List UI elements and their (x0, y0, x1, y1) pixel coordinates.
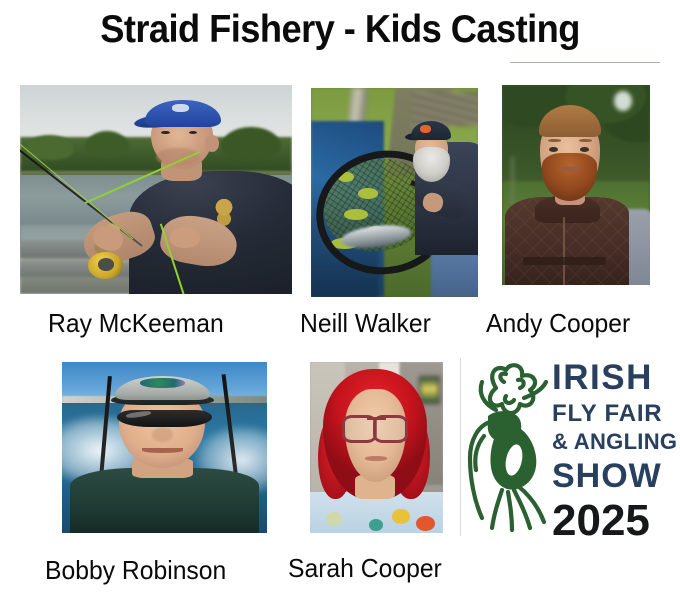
logo-wordmark: IRISH FLY FAIR & ANGLING SHOW 2025 (552, 360, 664, 543)
hand-on-line (170, 227, 200, 248)
logo-line-fly-fair: FLY FAIR (552, 402, 664, 426)
caption-neill-walker: Neill Walker (300, 308, 431, 339)
caption-sarah-cooper: Sarah Cooper (288, 553, 442, 584)
gilet-zip (563, 217, 565, 285)
logo-year: 2025 (552, 499, 664, 543)
logo-line-angling: & ANGLING (552, 431, 664, 453)
cap-logo (172, 104, 188, 112)
tree-clump (221, 127, 281, 160)
shamrock-fly-icon (462, 360, 548, 532)
photo-bobby-robinson (62, 362, 267, 533)
stubble (156, 148, 200, 167)
eyeglass-bridge (367, 417, 386, 420)
page-title: Straid Fishery - Kids Casting (24, 8, 656, 52)
mouth (142, 448, 183, 453)
wall-picture (419, 376, 440, 404)
nose (152, 427, 173, 442)
photo-neill-walker (311, 88, 478, 297)
caption-ray-mckeeman: Ray McKeeman (48, 308, 224, 339)
cap-logo (420, 125, 432, 133)
logo-divider-rule (460, 358, 461, 536)
floral-motif (392, 509, 409, 524)
caption-bobby-robinson: Bobby Robinson (45, 555, 226, 586)
picnic-bench (411, 92, 478, 125)
gilet-pocket (523, 257, 606, 265)
photo-andy-cooper (502, 85, 650, 285)
photo-ray-mckeeman (20, 85, 292, 294)
boat (20, 261, 145, 278)
eye (549, 147, 558, 152)
fence-post (511, 157, 514, 209)
reel-spool (98, 258, 114, 271)
poster-canvas: Straid Fishery - Kids Casting (0, 0, 680, 600)
title-underline-rule (510, 62, 660, 63)
tree-clump (25, 135, 74, 160)
floral-motif (326, 512, 342, 526)
logo-line-show: SHOW (552, 459, 664, 493)
tree-clump (85, 131, 129, 158)
logo-line-irish: IRISH (552, 360, 664, 395)
caption-andy-cooper: Andy Cooper (486, 308, 630, 339)
irish-fly-fair-logo: IRISH FLY FAIR & ANGLING SHOW 2025 (460, 358, 668, 536)
eye (580, 147, 589, 152)
photo-sarah-cooper (310, 362, 443, 533)
ear (205, 135, 219, 152)
